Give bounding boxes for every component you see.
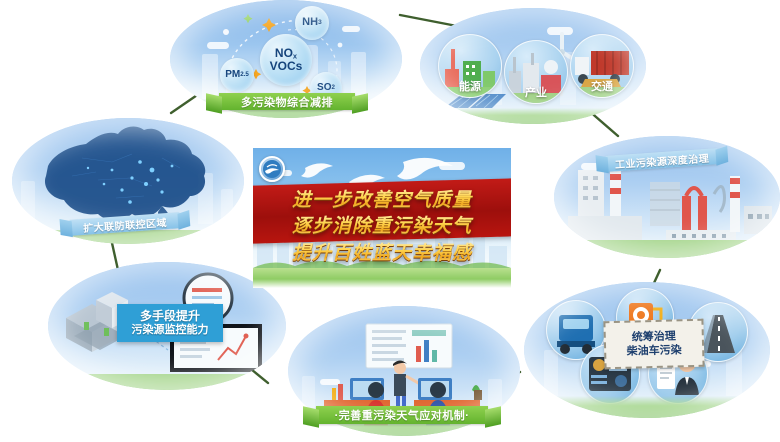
infographic-canvas: NOx VOCs NH3 PM2.5 SO2 多污染物综合减排 bbox=[0, 0, 780, 442]
label-line-2: 柴油车污染 bbox=[627, 343, 682, 359]
node-energy-industry-transport[interactable]: 能源 产业 bbox=[420, 8, 646, 124]
center-slogan-panel: 进一步改善空气质量 逐步消除重污染天气 提升百姓蓝天幸福感 bbox=[253, 148, 511, 288]
label-line-1: 统筹治理 bbox=[632, 329, 676, 344]
label-multi-pollutant-reduction: 多污染物综合减排 bbox=[219, 93, 355, 110]
label-heavy-pollution-response: ·完善重污染天气应对机制· bbox=[316, 406, 488, 424]
dove-emblem-logo bbox=[259, 156, 285, 182]
slogan-line-1: 进一步改善空气质量 bbox=[253, 185, 511, 212]
ground-strip bbox=[253, 268, 511, 288]
slogan-line-2: 逐步消除重污染天气 bbox=[253, 211, 511, 238]
label-text: 多污染物综合减排 bbox=[241, 94, 333, 110]
label-line-2: 污染源监控能力 bbox=[132, 324, 209, 338]
slogan-line-3: 提升百姓蓝天幸福感 bbox=[253, 238, 511, 265]
vignette bbox=[420, 8, 646, 124]
label-line-1: 多手段提升 bbox=[140, 309, 200, 324]
logo-glyph-icon bbox=[261, 158, 283, 180]
label-pollution-source-monitoring: 多手段提升 污染源监控能力 bbox=[117, 304, 223, 342]
label-diesel-vehicle-pollution: 统筹治理 柴油车污染 bbox=[603, 319, 704, 370]
label-text: ·完善重污染天气应对机制· bbox=[335, 407, 470, 423]
